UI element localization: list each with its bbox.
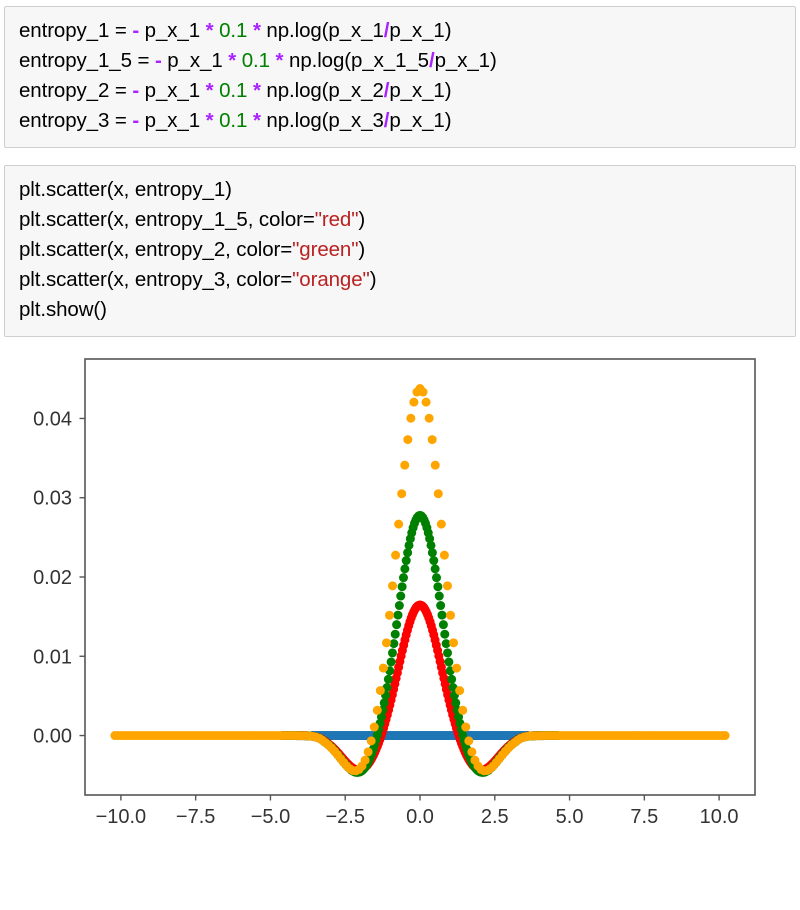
code-token: entropy_1 = — [19, 19, 132, 42]
code-token: * — [206, 79, 214, 102]
code-line: plt.scatter(x, entropy_1_5, color="red") — [19, 205, 781, 235]
x-tick-label: −7.5 — [176, 806, 215, 828]
code-token: * — [253, 109, 261, 132]
data-point — [443, 648, 452, 657]
code-line: entropy_1 = - p_x_1 * 0.1 * np.log(p_x_1… — [19, 16, 781, 46]
data-point — [431, 461, 440, 470]
data-point — [387, 657, 396, 666]
code-cell-plot-commands[interactable]: plt.scatter(x, entropy_1)plt.scatter(x, … — [4, 165, 796, 337]
code-line: plt.show() — [19, 295, 781, 325]
data-point — [400, 564, 409, 573]
code-token: * — [253, 79, 261, 102]
data-point — [397, 489, 406, 498]
code-line: entropy_2 = - p_x_1 * 0.1 * np.log(p_x_2… — [19, 76, 781, 106]
data-point — [428, 548, 437, 557]
data-point — [444, 657, 453, 666]
data-point — [391, 551, 400, 560]
data-point — [467, 747, 476, 756]
code-token: np.log(p_x_1_5 — [283, 49, 429, 72]
data-point — [438, 611, 447, 620]
code-line: plt.scatter(x, entropy_3, color="orange"… — [19, 265, 781, 295]
data-point — [393, 611, 402, 620]
code-token: plt.show() — [19, 298, 107, 321]
data-point — [437, 520, 446, 529]
data-point — [396, 592, 405, 601]
code-token: "green" — [292, 238, 358, 261]
data-point — [388, 581, 397, 590]
code-token: p_x_1) — [435, 49, 497, 72]
code-token: plt.scatter(x, entropy_1) — [19, 178, 232, 201]
x-tick-label: 5.0 — [556, 806, 584, 828]
code-token: p_x_1) — [389, 19, 451, 42]
plot-frame — [85, 359, 755, 795]
data-point — [403, 435, 412, 444]
code-token: ) — [358, 208, 365, 231]
data-point — [458, 706, 467, 715]
code-token: p_x_1 — [139, 19, 206, 42]
data-point — [436, 601, 445, 610]
x-tick-label: 10.0 — [700, 806, 739, 828]
data-point — [428, 435, 437, 444]
code-line: entropy_1_5 = - p_x_1 * 0.1 * np.log(p_x… — [19, 46, 781, 76]
code-token: p_x_1 — [139, 109, 206, 132]
data-point — [384, 675, 393, 684]
code-token: 0.1 — [219, 79, 247, 102]
data-point — [380, 698, 389, 707]
code-token: np.log(p_x_3 — [261, 109, 384, 132]
data-point — [446, 611, 455, 620]
data-point — [385, 611, 394, 620]
code-token: np.log(p_x_1 — [261, 19, 384, 42]
code-token: plt.scatter(x, entropy_3, color= — [19, 268, 292, 291]
x-tick-label: 7.5 — [630, 806, 658, 828]
data-point — [394, 520, 403, 529]
code-token: entropy_1_5 = — [19, 49, 155, 72]
series-entropy_1 — [308, 731, 532, 740]
x-tick-label: 0.0 — [406, 806, 434, 828]
code-token: * — [206, 109, 214, 132]
code-token: p_x_1 — [139, 79, 206, 102]
x-tick-label: 2.5 — [481, 806, 509, 828]
data-point — [382, 638, 391, 647]
data-point — [391, 630, 400, 639]
code-token: entropy_2 = — [19, 79, 132, 102]
code-token: ) — [370, 268, 377, 291]
code-line: plt.scatter(x, entropy_2, color="green") — [19, 235, 781, 265]
data-point — [443, 581, 452, 590]
data-point — [429, 556, 438, 565]
data-point — [721, 731, 730, 740]
y-axis: 0.000.010.020.030.04 — [33, 408, 85, 747]
x-axis: −10.0−7.5−5.0−2.50.02.55.07.510.0 — [96, 795, 739, 828]
data-point — [409, 398, 418, 407]
code-line: plt.scatter(x, entropy_1) — [19, 175, 781, 205]
data-point — [431, 564, 440, 573]
code-token: ) — [358, 238, 365, 261]
data-point — [464, 736, 473, 745]
data-point — [447, 675, 456, 684]
y-tick-label: 0.00 — [33, 726, 72, 748]
data-point — [392, 620, 401, 629]
code-token: "orange" — [292, 268, 370, 291]
code-token: p_x_1) — [389, 109, 451, 132]
y-tick-label: 0.01 — [33, 646, 72, 668]
data-point — [402, 556, 411, 565]
data-point — [419, 388, 428, 397]
data-point — [422, 398, 431, 407]
y-tick-label: 0.02 — [33, 567, 72, 589]
y-tick-label: 0.04 — [33, 408, 72, 430]
data-point — [425, 414, 434, 423]
code-token: entropy_3 = — [19, 109, 132, 132]
code-token: 0.1 — [219, 109, 247, 132]
x-tick-label: −2.5 — [325, 806, 364, 828]
data-point — [395, 601, 404, 610]
data-point — [370, 723, 379, 732]
data-point — [379, 664, 388, 673]
code-token: np.log(p_x_2 — [261, 79, 384, 102]
x-tick-label: −5.0 — [251, 806, 290, 828]
code-token: p_x_1) — [389, 79, 451, 102]
data-point — [388, 648, 397, 657]
code-token: * — [228, 49, 236, 72]
code-token: plt.scatter(x, entropy_1_5, color= — [19, 208, 315, 231]
code-token: plt.scatter(x, entropy_2, color= — [19, 238, 292, 261]
data-point — [449, 638, 458, 647]
data-point — [398, 582, 407, 591]
data-point — [399, 573, 408, 582]
code-cell-1-lines: entropy_1 = - p_x_1 * 0.1 * np.log(p_x_1… — [19, 16, 781, 136]
code-cell-2-lines: plt.scatter(x, entropy_1)plt.scatter(x, … — [19, 175, 781, 325]
code-cell-entropy-definitions[interactable]: entropy_1 = - p_x_1 * 0.1 * np.log(p_x_1… — [4, 6, 796, 148]
data-point — [440, 551, 449, 560]
code-token: - — [155, 49, 162, 72]
code-token: 0.1 — [242, 49, 270, 72]
data-point — [435, 592, 444, 601]
data-point — [461, 723, 470, 732]
data-point — [452, 664, 461, 673]
data-point — [433, 582, 442, 591]
data-point — [455, 686, 464, 695]
data-point — [364, 747, 373, 756]
data-point — [406, 414, 415, 423]
data-point — [440, 630, 449, 639]
x-tick-label: −10.0 — [96, 806, 147, 828]
data-point — [376, 686, 385, 695]
code-token: 0.1 — [219, 19, 247, 42]
code-token: * — [253, 19, 261, 42]
data-point — [361, 756, 370, 765]
data-point — [439, 620, 448, 629]
y-tick-label: 0.03 — [33, 488, 72, 510]
code-token: p_x_1 — [162, 49, 229, 72]
code-token: "red" — [315, 208, 359, 231]
matplotlib-figure-output: −10.0−7.5−5.0−2.50.02.55.07.510.00.000.0… — [0, 351, 800, 851]
data-point — [373, 706, 382, 715]
data-point — [367, 736, 376, 745]
scatter-plot: −10.0−7.5−5.0−2.50.02.55.07.510.00.000.0… — [0, 351, 800, 851]
code-line: entropy_3 = - p_x_1 * 0.1 * np.log(p_x_3… — [19, 106, 781, 136]
code-token: * — [206, 19, 214, 42]
data-point — [400, 461, 409, 470]
data-point — [434, 489, 443, 498]
data-point — [432, 573, 441, 582]
